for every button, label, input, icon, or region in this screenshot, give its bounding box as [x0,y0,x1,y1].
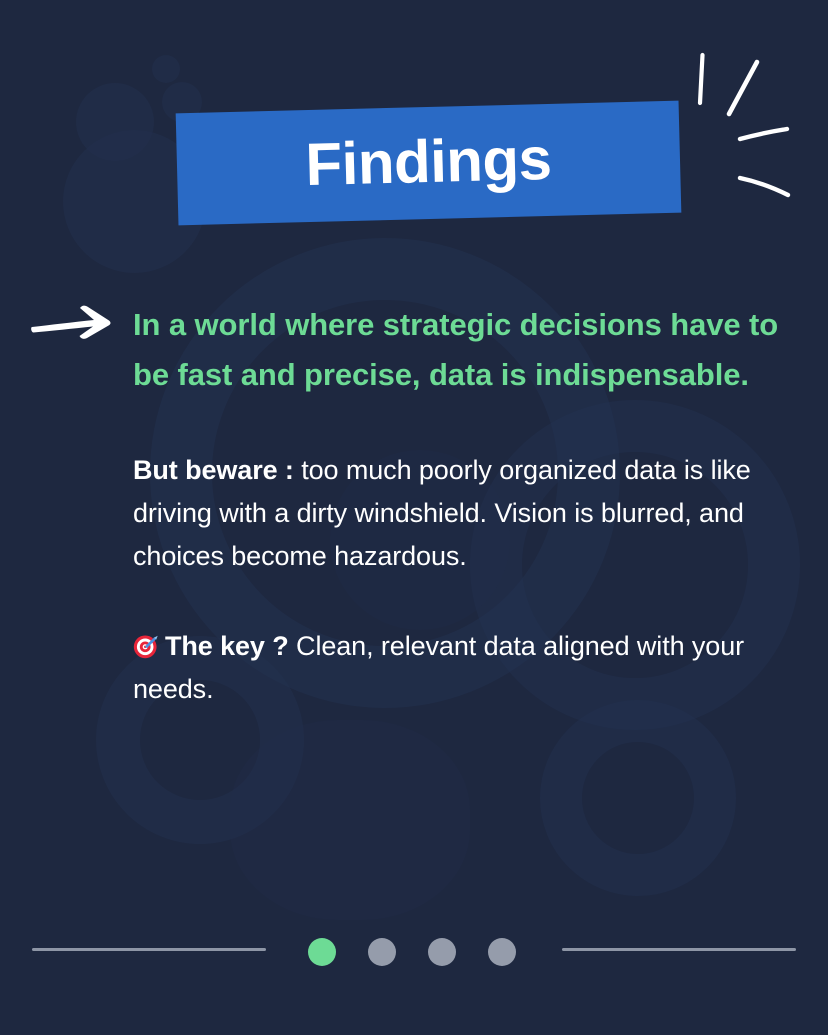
pager-dot-1[interactable] [308,938,336,966]
pager-dots[interactable] [308,938,520,966]
arrow-right-icon [30,302,112,344]
warning-prefix: But beware : [133,455,294,485]
bg-blob-tiny-1 [152,55,180,83]
bg-blob-lower [230,720,470,920]
warning-paragraph: But beware : too much poorly organized d… [133,449,781,578]
slide-canvas: Findings In a world where strategic deci… [0,0,828,1035]
page-title: Findings [305,129,552,195]
pager-dot-3[interactable] [428,938,456,966]
lead-statement: In a world where strategic decisions hav… [133,300,781,399]
key-prefix: The key ? [165,631,289,661]
pager-rule-right [562,948,796,951]
sparkle-lines-icon [680,40,820,220]
pager-dot-4[interactable] [488,938,516,966]
key-paragraph: The key ? Clean, relevant data aligned w… [133,625,781,711]
bg-ring-lower-right [540,700,736,896]
bg-blob-small-1 [76,83,154,161]
title-banner: Findings [176,101,682,226]
pager-rule-left [32,948,266,951]
target-emoji [133,633,159,659]
pager-dot-2[interactable] [368,938,396,966]
slide-body: In a world where strategic decisions hav… [133,300,781,711]
